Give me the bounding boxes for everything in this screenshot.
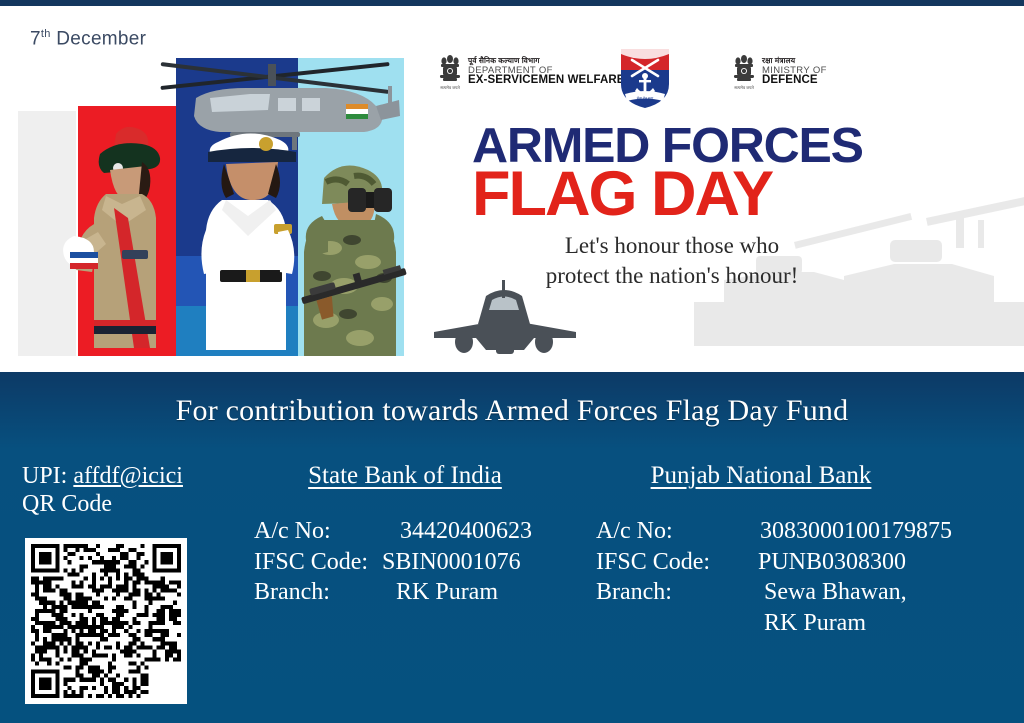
banner: सत्यमेव जयते पूर्व सैनिक कल्याण विभाग DE… [0, 6, 1024, 372]
upi-block: UPI: affdf@icici QR Code [22, 462, 183, 519]
flag-day-crest-icon: सेवा हेतु सदा [618, 46, 672, 110]
row-value: SBIN0001076 [382, 547, 578, 578]
row-value: 34420400623 [382, 516, 578, 547]
upi-id[interactable]: affdf@icici [73, 463, 183, 489]
contribution-section: For contribution towards Armed Forces Fl… [0, 372, 1024, 723]
bank-rows: A/c No: 34420400623 IFSC Code: SBIN00010… [238, 516, 578, 608]
qr-code[interactable] [25, 538, 187, 704]
armed-forces-flag-day-poster: सत्यमेव जयते पूर्व सैनिक कल्याण विभाग DE… [0, 0, 1024, 723]
observance-date: 7th December [30, 28, 146, 50]
date-ordinal: th [41, 28, 51, 40]
table-row: IFSC Code: SBIN0001076 [254, 547, 578, 578]
logo-row: सत्यमेव जयते पूर्व सैनिक कल्याण विभाग DE… [437, 46, 857, 108]
row-value: PUNB0308300 [746, 547, 990, 578]
bank-details-pnb: Punjab National Bank A/c No: 30830001001… [590, 462, 990, 639]
bank-rows: A/c No: 3083000100179875 IFSC Code: PUNB… [590, 516, 990, 639]
date-day: 7 [30, 28, 41, 49]
svg-text:सत्यमेव जयते: सत्यमेव जयते [734, 85, 754, 90]
table-row: A/c No: 34420400623 [254, 516, 578, 547]
qr-code-canvas[interactable] [31, 544, 181, 698]
contribution-title: For contribution towards Armed Forces Fl… [0, 394, 1024, 428]
row-key: Branch: [254, 577, 382, 608]
table-row: A/c No: 3083000100179875 [596, 516, 990, 547]
qr-label: QR Code [22, 490, 183, 518]
logo-mod-line2: DEFENCE [762, 75, 827, 87]
table-row: Branch: RK Puram [254, 577, 578, 608]
row-value: 3083000100179875 [746, 516, 990, 547]
banner-bottom-fade [0, 356, 1024, 372]
table-row: IFSC Code: PUNB0308300 [596, 547, 990, 578]
tagline: Let's honour those who protect the natio… [472, 231, 872, 291]
row-key: A/c No: [254, 516, 382, 547]
row-key: Branch: [596, 577, 746, 608]
svg-text:सत्यमेव जयते: सत्यमेव जयते [440, 85, 460, 90]
table-row: Branch: Sewa Bhawan, [596, 577, 990, 608]
svg-text:सेवा हेतु सदा: सेवा हेतु सदा [637, 96, 654, 101]
logo-ksb-line2: EX-SERVICEMEN WELFARE [468, 75, 625, 87]
bank-name: Punjab National Bank [590, 462, 990, 490]
row-key: IFSC Code: [596, 547, 746, 578]
headline-line-2: FLAG DAY [472, 166, 872, 224]
row-key: A/c No: [596, 516, 746, 547]
ashoka-emblem-icon: सत्यमेव जयते [437, 52, 463, 92]
row-value: RK Puram [382, 577, 578, 608]
headline: ARMED FORCES FLAG DAY [472, 124, 872, 224]
row-value: Sewa Bhawan, [746, 577, 990, 608]
bank-details-sbi: State Bank of India A/c No: 34420400623 … [238, 462, 578, 608]
date-month: December [56, 28, 146, 49]
headline-line-1: ARMED FORCES [472, 124, 880, 169]
logo-mod-hindi: रक्षा मंत्रालय [762, 57, 827, 65]
upi-line: UPI: affdf@icici [22, 462, 183, 490]
table-row: RK Puram [596, 608, 990, 639]
upi-label: UPI: [22, 463, 67, 489]
logo-dept-ex-servicemen-welfare: सत्यमेव जयते पूर्व सैनिक कल्याण विभाग DE… [437, 52, 625, 92]
soldier-binoculars-figure [296, 156, 416, 356]
tagline-line-1: Let's honour those who [472, 231, 872, 261]
ashoka-emblem-icon: सत्यमेव जयते [731, 52, 757, 92]
row-value: RK Puram [746, 608, 990, 639]
logo-ministry-of-defence: सत्यमेव जयते रक्षा मंत्रालय MINISTRY OF … [731, 52, 827, 92]
army-officer-figure [60, 124, 186, 356]
tagline-line-2: protect the nation's honour! [472, 261, 872, 291]
row-key [596, 608, 746, 639]
bank-name: State Bank of India [238, 462, 578, 490]
navy-officer-figure [196, 114, 308, 356]
row-key: IFSC Code: [254, 547, 382, 578]
logo-ksb-hindi: पूर्व सैनिक कल्याण विभाग [468, 57, 625, 65]
